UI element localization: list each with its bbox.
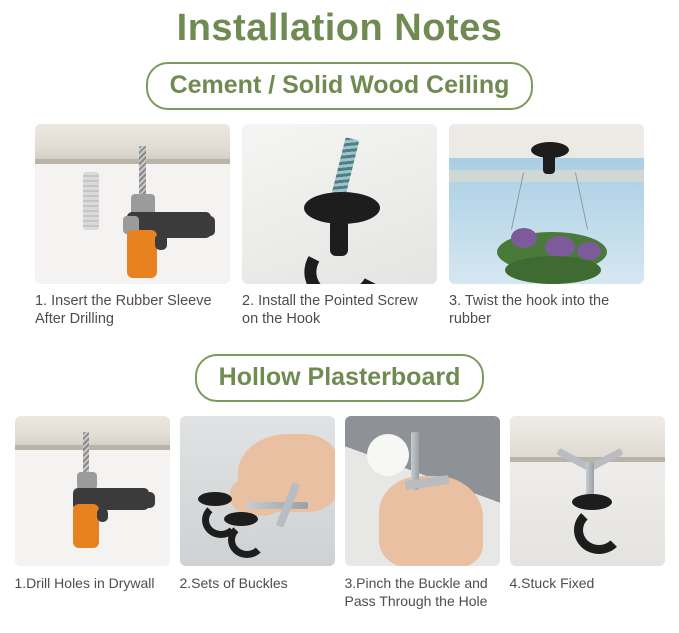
drill-bit-icon xyxy=(139,146,146,198)
hook-twisted-into-ceiling-photo xyxy=(449,124,644,284)
step-caption: 3. Twist the hook into the rubber xyxy=(449,292,644,328)
step-caption: 4.Stuck Fixed xyxy=(510,574,665,592)
page-title: Installation Notes xyxy=(0,6,679,50)
stuck-fixed-photo xyxy=(510,416,665,566)
thumb-shape xyxy=(230,476,286,516)
step-caption: 3.Pinch the Buckle and Pass Through the … xyxy=(345,574,500,610)
drill-rear-shape xyxy=(185,216,215,236)
pointed-screw-hook-photo xyxy=(242,124,437,284)
drill-handle-shape xyxy=(127,230,157,278)
step-caption: 1. Insert the Rubber Sleeve After Drilli… xyxy=(35,292,230,328)
step-item: 1. Insert the Rubber Sleeve After Drilli… xyxy=(35,124,230,328)
ceiling-board-shape xyxy=(510,416,665,462)
ceiling-board-shape xyxy=(35,124,230,164)
pinch-buckle-photo xyxy=(345,416,500,566)
drill-trigger-shape xyxy=(155,234,167,250)
flower-blossom-3 xyxy=(577,242,601,260)
plant-foliage-lower xyxy=(505,256,601,284)
ceiling-hook-shank-shape xyxy=(543,152,555,174)
hook-curve-shape-2 xyxy=(228,522,266,558)
flower-blossom-2 xyxy=(545,236,575,258)
drill-rear-shape xyxy=(127,492,155,508)
toggle-bolt-rod xyxy=(246,502,308,509)
sets-of-buckles-photo xyxy=(180,416,335,566)
step-caption: 2.Sets of Buckles xyxy=(180,574,335,592)
step-item: 3. Twist the hook into the rubber xyxy=(449,124,644,328)
drilled-hole-shape xyxy=(367,434,409,476)
section-heading-cement-solid-wood-ceiling: Cement / Solid Wood Ceiling xyxy=(146,62,534,110)
flower-blossom-1 xyxy=(511,228,537,248)
step-caption: 2. Install the Pointed Screw on the Hook xyxy=(242,292,437,328)
rubber-sleeve-icon xyxy=(83,172,99,230)
drill-trigger-shape xyxy=(97,508,108,522)
hook-curve-shape xyxy=(574,506,624,554)
section-2-steps-row: 1.Drill Holes in Drywall 2.Sets of Buckl… xyxy=(0,416,679,610)
drill-with-rubber-sleeve-photo xyxy=(35,124,230,284)
drill-handle-shape xyxy=(73,504,99,548)
step-caption: 1.Drill Holes in Drywall xyxy=(15,574,170,592)
section-heading-hollow-plasterboard: Hollow Plasterboard xyxy=(195,354,485,402)
drill-bit-icon xyxy=(83,432,89,476)
hand-shape xyxy=(379,476,483,566)
ceiling-board-shape xyxy=(15,416,170,450)
installation-notes-page: Installation Notes Cement / Solid Wood C… xyxy=(0,6,679,633)
section-1-steps-row: 1. Insert the Rubber Sleeve After Drilli… xyxy=(0,124,679,328)
step-item: 4.Stuck Fixed xyxy=(510,416,665,610)
toggle-bolt-rod xyxy=(586,462,594,498)
step-item: 1.Drill Holes in Drywall xyxy=(15,416,170,610)
step-item: 2. Install the Pointed Screw on the Hook xyxy=(242,124,437,328)
step-item: 3.Pinch the Buckle and Pass Through the … xyxy=(345,416,500,610)
drill-holes-drywall-photo xyxy=(15,416,170,566)
step-item: 2.Sets of Buckles xyxy=(180,416,335,610)
